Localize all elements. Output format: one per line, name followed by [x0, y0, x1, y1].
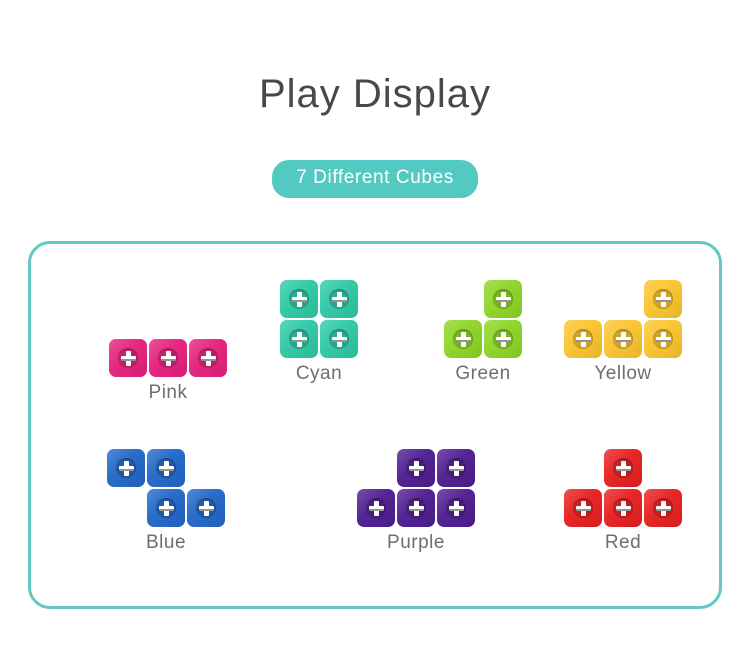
cube-group-label-pink: Pink [109, 383, 227, 404]
cube-blue-1 [107, 449, 145, 487]
cube-group-purple: Purple [357, 449, 475, 554]
cube-slot-line [496, 340, 511, 342]
plus-screw-icon [201, 351, 216, 366]
cube-purple-5 [437, 489, 475, 527]
cube-slot-line [449, 509, 464, 511]
plus-screw-icon [616, 461, 631, 476]
cube-shape-yellow [564, 280, 682, 358]
cube-shape-pink [109, 339, 227, 377]
plus-screw-icon [656, 332, 671, 347]
cubes-panel: PinkCyanGreenYellowBluePurpleRed [28, 241, 722, 609]
cube-group-label-red: Red [564, 533, 682, 554]
plus-screw-icon [369, 501, 384, 516]
cube-yellow-3 [604, 320, 642, 358]
cube-slot-line [656, 509, 671, 511]
cube-slot-line [456, 340, 471, 342]
cube-green-1 [484, 280, 522, 318]
cube-groups-grid: PinkCyanGreenYellowBluePurpleRed [31, 244, 719, 606]
cube-slot-line [409, 509, 424, 511]
cube-slot-line [616, 469, 631, 471]
cube-slot-line [656, 300, 671, 302]
cube-slot-line [159, 469, 174, 471]
cube-pink-1 [109, 339, 147, 377]
cube-group-blue: Blue [107, 449, 225, 554]
cube-red-1 [604, 449, 642, 487]
cube-blue-4 [187, 489, 225, 527]
cube-slot-line [292, 300, 307, 302]
plus-screw-icon [121, 351, 136, 366]
cube-pink-3 [189, 339, 227, 377]
plus-screw-icon [449, 501, 464, 516]
plus-screw-icon [292, 292, 307, 307]
cube-group-label-cyan: Cyan [280, 364, 358, 385]
plus-screw-icon [332, 332, 347, 347]
cube-slot-line [119, 469, 134, 471]
badge-row: 7 Different Cubes [0, 160, 750, 198]
cube-cyan-1 [280, 280, 318, 318]
cube-slot-line [616, 340, 631, 342]
plus-screw-icon [159, 461, 174, 476]
plus-screw-icon [456, 332, 471, 347]
cube-group-label-purple: Purple [357, 533, 475, 554]
cube-yellow-1 [644, 280, 682, 318]
cube-group-label-green: Green [444, 364, 522, 385]
plus-screw-icon [656, 292, 671, 307]
cube-group-cyan: Cyan [280, 280, 358, 385]
cube-shape-red [564, 449, 682, 527]
cube-cyan-3 [280, 320, 318, 358]
cube-purple-3 [357, 489, 395, 527]
plus-screw-icon [496, 332, 511, 347]
cube-green-3 [484, 320, 522, 358]
cube-group-red: Red [564, 449, 682, 554]
cube-slot-line [616, 509, 631, 511]
plus-screw-icon [161, 351, 176, 366]
cube-yellow-4 [644, 320, 682, 358]
cube-slot-line [159, 509, 174, 511]
status-badge: 7 Different Cubes [272, 160, 478, 198]
cube-slot-line [201, 359, 216, 361]
cube-purple-1 [397, 449, 435, 487]
cube-shape-purple [357, 449, 475, 527]
cube-red-3 [604, 489, 642, 527]
cube-cyan-2 [320, 280, 358, 318]
page-title: Play Display [0, 0, 750, 116]
cube-slot-line [121, 359, 136, 361]
cube-slot-line [496, 300, 511, 302]
cube-slot-line [409, 469, 424, 471]
plus-screw-icon [656, 501, 671, 516]
cube-red-4 [644, 489, 682, 527]
plus-screw-icon [332, 292, 347, 307]
plus-screw-icon [409, 501, 424, 516]
plus-screw-icon [616, 501, 631, 516]
plus-screw-icon [159, 501, 174, 516]
cube-slot-line [449, 469, 464, 471]
cube-group-pink: Pink [109, 339, 227, 404]
plus-screw-icon [199, 501, 214, 516]
plus-screw-icon [616, 332, 631, 347]
cube-purple-4 [397, 489, 435, 527]
cube-blue-3 [147, 489, 185, 527]
cube-pink-2 [149, 339, 187, 377]
cube-slot-line [332, 300, 347, 302]
cube-shape-cyan [280, 280, 358, 358]
plus-screw-icon [576, 332, 591, 347]
cube-purple-2 [437, 449, 475, 487]
cube-red-2 [564, 489, 602, 527]
cube-cyan-4 [320, 320, 358, 358]
cube-group-yellow: Yellow [564, 280, 682, 385]
plus-screw-icon [449, 461, 464, 476]
cube-slot-line [576, 340, 591, 342]
plus-screw-icon [292, 332, 307, 347]
plus-screw-icon [409, 461, 424, 476]
cube-slot-line [332, 340, 347, 342]
cube-slot-line [161, 359, 176, 361]
cube-shape-green [444, 280, 522, 358]
cube-group-label-blue: Blue [107, 533, 225, 554]
cube-slot-line [576, 509, 591, 511]
cube-blue-2 [147, 449, 185, 487]
cube-group-label-yellow: Yellow [564, 364, 682, 385]
cube-slot-line [369, 509, 384, 511]
cube-slot-line [199, 509, 214, 511]
plus-screw-icon [119, 461, 134, 476]
cube-slot-line [656, 340, 671, 342]
cube-green-2 [444, 320, 482, 358]
cube-shape-blue [107, 449, 225, 527]
plus-screw-icon [496, 292, 511, 307]
cube-slot-line [292, 340, 307, 342]
cube-yellow-2 [564, 320, 602, 358]
plus-screw-icon [576, 501, 591, 516]
cube-group-green: Green [444, 280, 522, 385]
